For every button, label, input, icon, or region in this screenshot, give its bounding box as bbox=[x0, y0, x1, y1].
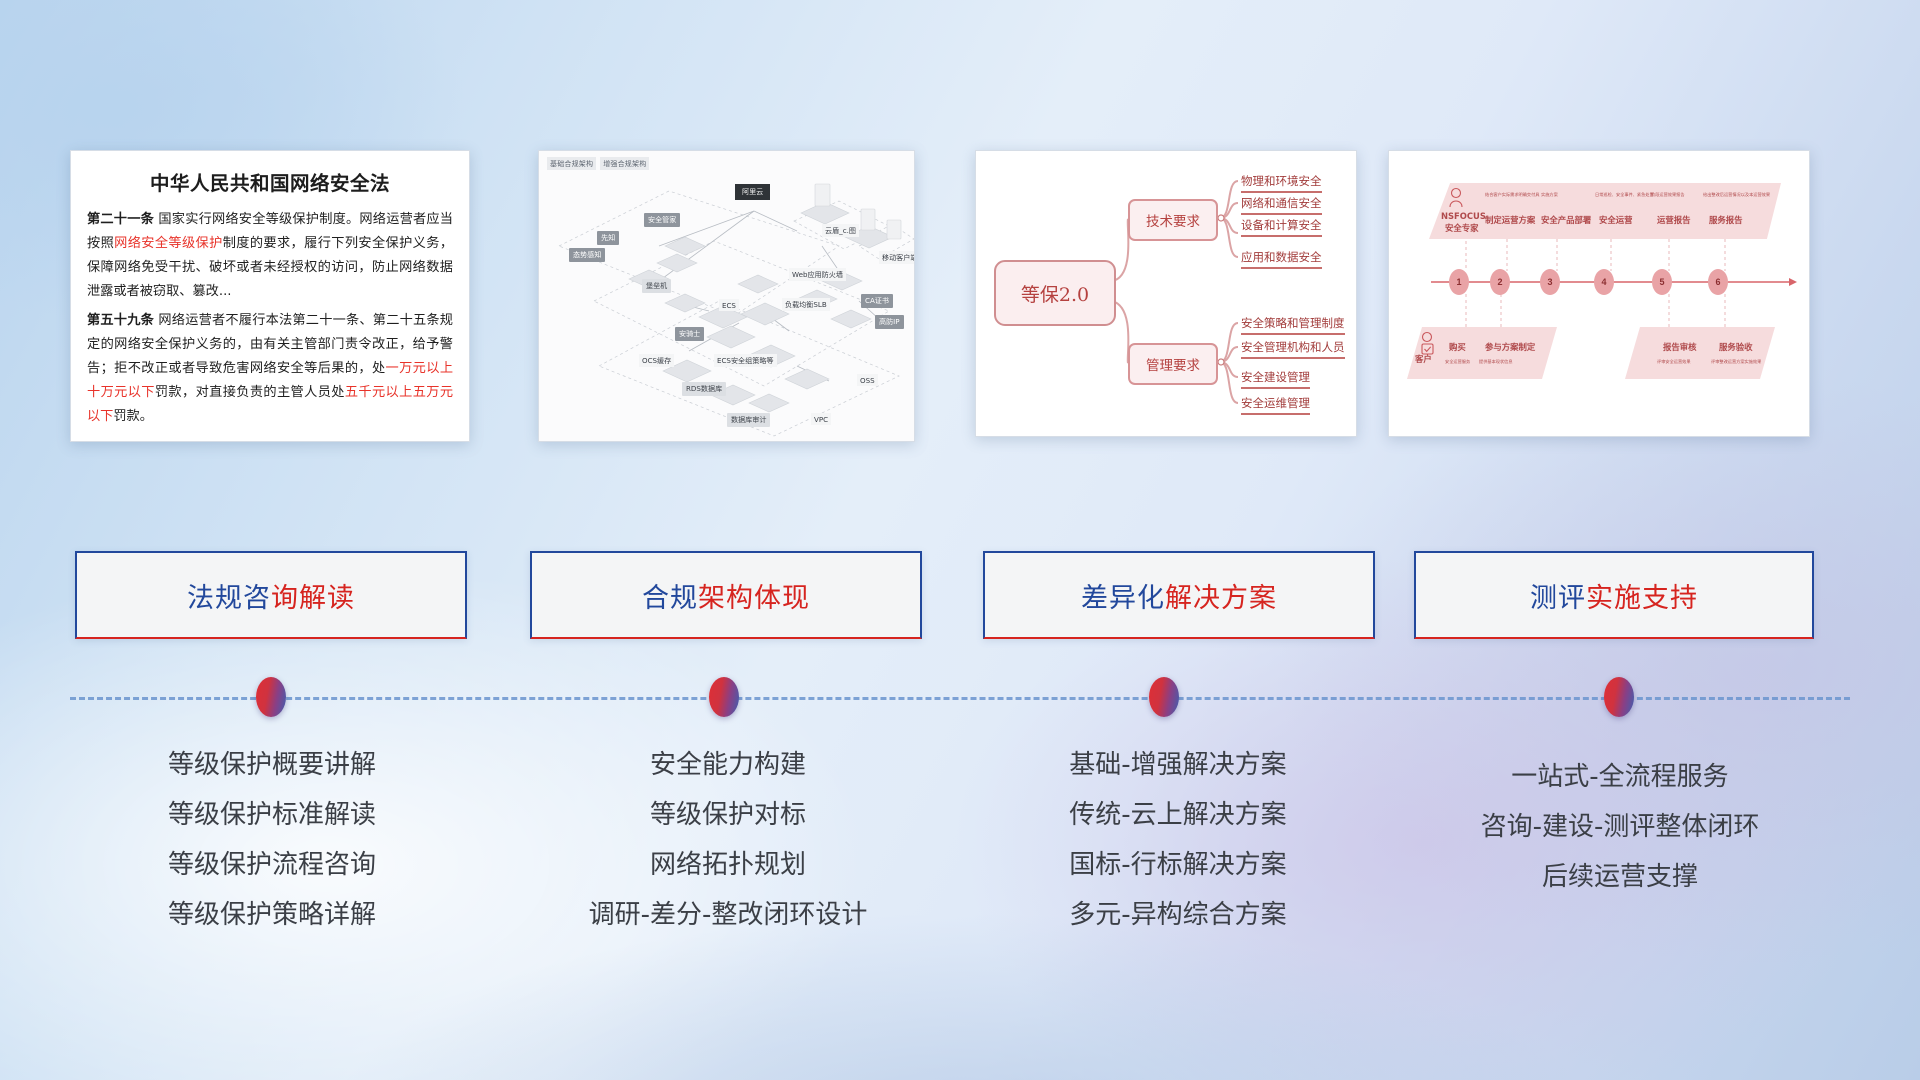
list-item: 等级保护概要讲解 bbox=[72, 740, 472, 790]
law-seg: 罚款，对直接负责的主管人员处 bbox=[155, 385, 345, 400]
list-item: 多元-异构综合方案 bbox=[968, 890, 1388, 940]
nsfocus-bottom-step-title: 报告审核 bbox=[1663, 341, 1697, 353]
detail-column-4: 一站式-全流程服务 咨询-建设-测评整体闭环 后续运营支撑 bbox=[1410, 752, 1830, 902]
category-button-row: 法规咨询解读 合规架构体现 差异化解决方案 测评实施支持 bbox=[0, 551, 1920, 641]
law-title: 中华人民共和国网络安全法 bbox=[87, 167, 453, 196]
nsfocus-top-step-title: 制定运营方案 bbox=[1485, 214, 1535, 226]
mindmap-root-node: 等保2.0 bbox=[994, 260, 1116, 326]
nsfocus-diagram: NSFOCUS安全专家结合客户实际需求明确交付具制定运营方案实施方案安全产品部署… bbox=[1389, 151, 1809, 436]
list-item: 一站式-全流程服务 bbox=[1410, 752, 1830, 802]
list-item: 等级保护流程咨询 bbox=[72, 840, 472, 890]
nsfocus-role-top-line2: 安全专家 bbox=[1445, 222, 1479, 234]
timeline-dashed-line bbox=[70, 697, 1850, 700]
nsfocus-top-step-title: 运营报告 bbox=[1657, 214, 1691, 226]
mindmap-leaf: 安全管理机构和人员 bbox=[1241, 339, 1345, 359]
list-item: 安全能力构建 bbox=[528, 740, 928, 790]
architecture-node-label: 安骑士 bbox=[675, 327, 704, 341]
nsfocus-top-step-title: 服务报告 bbox=[1709, 214, 1743, 226]
card-law-document[interactable]: 中华人民共和国网络安全法 第二十一条 国家实行网络安全等级保护制度。网络运营者应… bbox=[70, 150, 470, 442]
button-label-blue: 测评 bbox=[1530, 583, 1586, 614]
button-label-blue: 法规咨 bbox=[187, 583, 271, 614]
nsfocus-step-number: 2 bbox=[1490, 269, 1510, 295]
architecture-node-label: 堡垒机 bbox=[642, 279, 671, 293]
architecture-node-label: OCS缓存 bbox=[639, 354, 674, 367]
law-paragraph-59: 第五十九条 网络运营者不履行本法第二十一条、第二十五条规定的网络安全保护义务的，… bbox=[87, 309, 453, 429]
mindmap-leaf: 网络和通信安全 bbox=[1241, 195, 1322, 215]
architecture-node-label: 负载均衡SLB bbox=[782, 298, 830, 311]
nsfocus-bottom-step-sub: 安全运营服务 bbox=[1445, 359, 1470, 365]
mindmap-leaf: 设备和计算安全 bbox=[1241, 217, 1322, 237]
timeline-dot-1[interactable] bbox=[256, 677, 286, 717]
list-item: 基础-增强解决方案 bbox=[968, 740, 1388, 790]
architecture-node-label: 安全管家 bbox=[644, 213, 680, 227]
button-assessment-support[interactable]: 测评实施支持 bbox=[1414, 551, 1814, 639]
button-label-blue: 合规 bbox=[642, 583, 698, 614]
preview-cards-row: 中华人民共和国网络安全法 第二十一条 国家实行网络安全等级保护制度。网络运营者应… bbox=[0, 150, 1920, 445]
nsfocus-step-number: 3 bbox=[1540, 269, 1560, 295]
button-regulation-consult[interactable]: 法规咨询解读 bbox=[75, 551, 467, 639]
nsfocus-role-top-line1: NSFOCUS bbox=[1441, 211, 1486, 221]
architecture-node-label: 数据库审计 bbox=[727, 413, 770, 427]
architecture-node-label: RDS数据库 bbox=[682, 382, 726, 396]
law-paragraph-21: 第二十一条 国家实行网络安全等级保护制度。网络运营者应当按照网络安全等级保护制度… bbox=[87, 208, 453, 304]
button-differentiated-solution[interactable]: 差异化解决方案 bbox=[983, 551, 1375, 639]
list-item: 传统-云上解决方案 bbox=[968, 790, 1388, 840]
mindmap-leaf: 安全策略和管理制度 bbox=[1241, 315, 1345, 335]
mindmap: 等保2.0 技术要求 管理要求 物理和环境安全网络和通信安全设备和计算安全应用和… bbox=[976, 151, 1356, 436]
nsfocus-top-step-sub: 阶段运营效果报告 bbox=[1651, 192, 1685, 198]
mindmap-branch-technical: 技术要求 bbox=[1128, 199, 1218, 241]
law-article-label-59: 第五十九条 bbox=[87, 313, 154, 328]
button-label-red: 解决方案 bbox=[1165, 583, 1277, 614]
nsfocus-top-step-sub: 结合客户实际需求明确交付具 bbox=[1485, 192, 1539, 198]
architecture-node-label: 移动客户端 bbox=[879, 251, 915, 264]
mindmap-leaf: 安全建设管理 bbox=[1241, 369, 1310, 389]
nsfocus-bottom-step-sub: 提供基本现状信息 bbox=[1479, 359, 1513, 365]
nsfocus-bottom-step-title: 购买 bbox=[1449, 341, 1466, 353]
nsfocus-step-number: 6 bbox=[1708, 269, 1728, 295]
card-mindmap-dengbao[interactable]: 等保2.0 技术要求 管理要求 物理和环境安全网络和通信安全设备和计算安全应用和… bbox=[975, 150, 1357, 437]
nsfocus-step-number: 4 bbox=[1594, 269, 1614, 295]
button-label-blue: 差异化 bbox=[1081, 583, 1165, 614]
timeline bbox=[0, 668, 1920, 728]
nsfocus-bottom-step-sub: 评审整改运营方案实施效果 bbox=[1711, 359, 1761, 365]
nsfocus-top-step-sub: 实施方案 bbox=[1541, 192, 1558, 198]
architecture-node-label: ECS bbox=[719, 299, 739, 311]
button-compliance-architecture[interactable]: 合规架构体现 bbox=[530, 551, 922, 639]
timeline-dot-2[interactable] bbox=[709, 677, 739, 717]
architecture-node-label: CA证书 bbox=[861, 294, 893, 308]
law-document-body: 中华人民共和国网络安全法 第二十一条 国家实行网络安全等级保护制度。网络运营者应… bbox=[71, 151, 469, 441]
detail-column-2: 安全能力构建 等级保护对标 网络拓扑规划 调研-差分-整改闭环设计 bbox=[528, 740, 928, 940]
law-seg-highlight: 网络安全等级保护 bbox=[114, 236, 223, 251]
service-detail-lists: 等级保护概要讲解 等级保护标准解读 等级保护流程咨询 等级保护策略详解 安全能力… bbox=[0, 740, 1920, 970]
architecture-node-label: 态势感知 bbox=[569, 248, 605, 262]
list-item: 咨询-建设-测评整体闭环 bbox=[1410, 802, 1830, 852]
mindmap-leaf: 应用和数据安全 bbox=[1241, 249, 1322, 269]
mindmap-leaf: 物理和环境安全 bbox=[1241, 173, 1322, 193]
architecture-node-label: OSS bbox=[857, 374, 878, 386]
button-label-red: 架构体现 bbox=[698, 583, 810, 614]
mindmap-leaf: 安全运维管理 bbox=[1241, 395, 1310, 415]
detail-column-1: 等级保护概要讲解 等级保护标准解读 等级保护流程咨询 等级保护策略详解 bbox=[72, 740, 472, 940]
nsfocus-bottom-step-title: 参与方案制定 bbox=[1485, 341, 1535, 353]
nsfocus-top-step-sub: 给出整改后运营情况以及本运营效果 bbox=[1703, 192, 1770, 198]
nsfocus-bottom-step-title: 服务验收 bbox=[1719, 341, 1753, 353]
nsfocus-step-number: 1 bbox=[1449, 269, 1469, 295]
architecture-node-label: 阿里云 bbox=[735, 184, 770, 200]
architecture-node-label: ECS安全组策略等 bbox=[714, 354, 777, 367]
architecture-links bbox=[539, 151, 914, 441]
list-item: 等级保护策略详解 bbox=[72, 890, 472, 940]
nsfocus-step-number: 5 bbox=[1652, 269, 1672, 295]
nsfocus-top-step-title: 安全产品部署 bbox=[1541, 214, 1591, 226]
timeline-dot-4[interactable] bbox=[1604, 677, 1634, 717]
nsfocus-top-step-title: 安全运营 bbox=[1599, 214, 1633, 226]
list-item: 调研-差分-整改闭环设计 bbox=[528, 890, 928, 940]
architecture-node-label: Web应用防火墙 bbox=[789, 268, 846, 281]
card-nsfocus-service-timeline[interactable]: NSFOCUS安全专家结合客户实际需求明确交付具制定运营方案实施方案安全产品部署… bbox=[1388, 150, 1810, 437]
list-item: 等级保护标准解读 bbox=[72, 790, 472, 840]
timeline-dot-3[interactable] bbox=[1149, 677, 1179, 717]
list-item: 等级保护对标 bbox=[528, 790, 928, 840]
mindmap-branch-management: 管理要求 bbox=[1128, 343, 1218, 385]
list-item: 后续运营支撑 bbox=[1410, 852, 1830, 902]
nsfocus-top-step-sub: 日常巡检、安全事件、紧急处置 bbox=[1595, 192, 1654, 198]
button-label-red: 询解读 bbox=[271, 583, 355, 614]
architecture-node-label: 云盾_c.图 bbox=[822, 224, 859, 237]
architecture-node-label: 高防IP bbox=[875, 315, 904, 329]
card-cloud-architecture[interactable]: 基础合规架构增强合规架构 bbox=[538, 150, 915, 442]
architecture-diagram: 基础合规架构增强合规架构 bbox=[539, 151, 914, 441]
nsfocus-role-bottom: 客户 bbox=[1415, 353, 1432, 365]
architecture-node-label: 先知 bbox=[597, 231, 619, 245]
list-item: 网络拓扑规划 bbox=[528, 840, 928, 890]
architecture-node-label: VPC bbox=[811, 413, 831, 425]
button-label-red: 实施支持 bbox=[1586, 583, 1698, 614]
list-item: 国标-行标解决方案 bbox=[968, 840, 1388, 890]
detail-column-3: 基础-增强解决方案 传统-云上解决方案 国标-行标解决方案 多元-异构综合方案 bbox=[968, 740, 1388, 940]
nsfocus-bottom-step-sub: 评审安全运营效果 bbox=[1657, 359, 1691, 365]
law-article-label-21: 第二十一条 bbox=[87, 212, 154, 227]
law-seg: 罚款。 bbox=[113, 409, 153, 424]
